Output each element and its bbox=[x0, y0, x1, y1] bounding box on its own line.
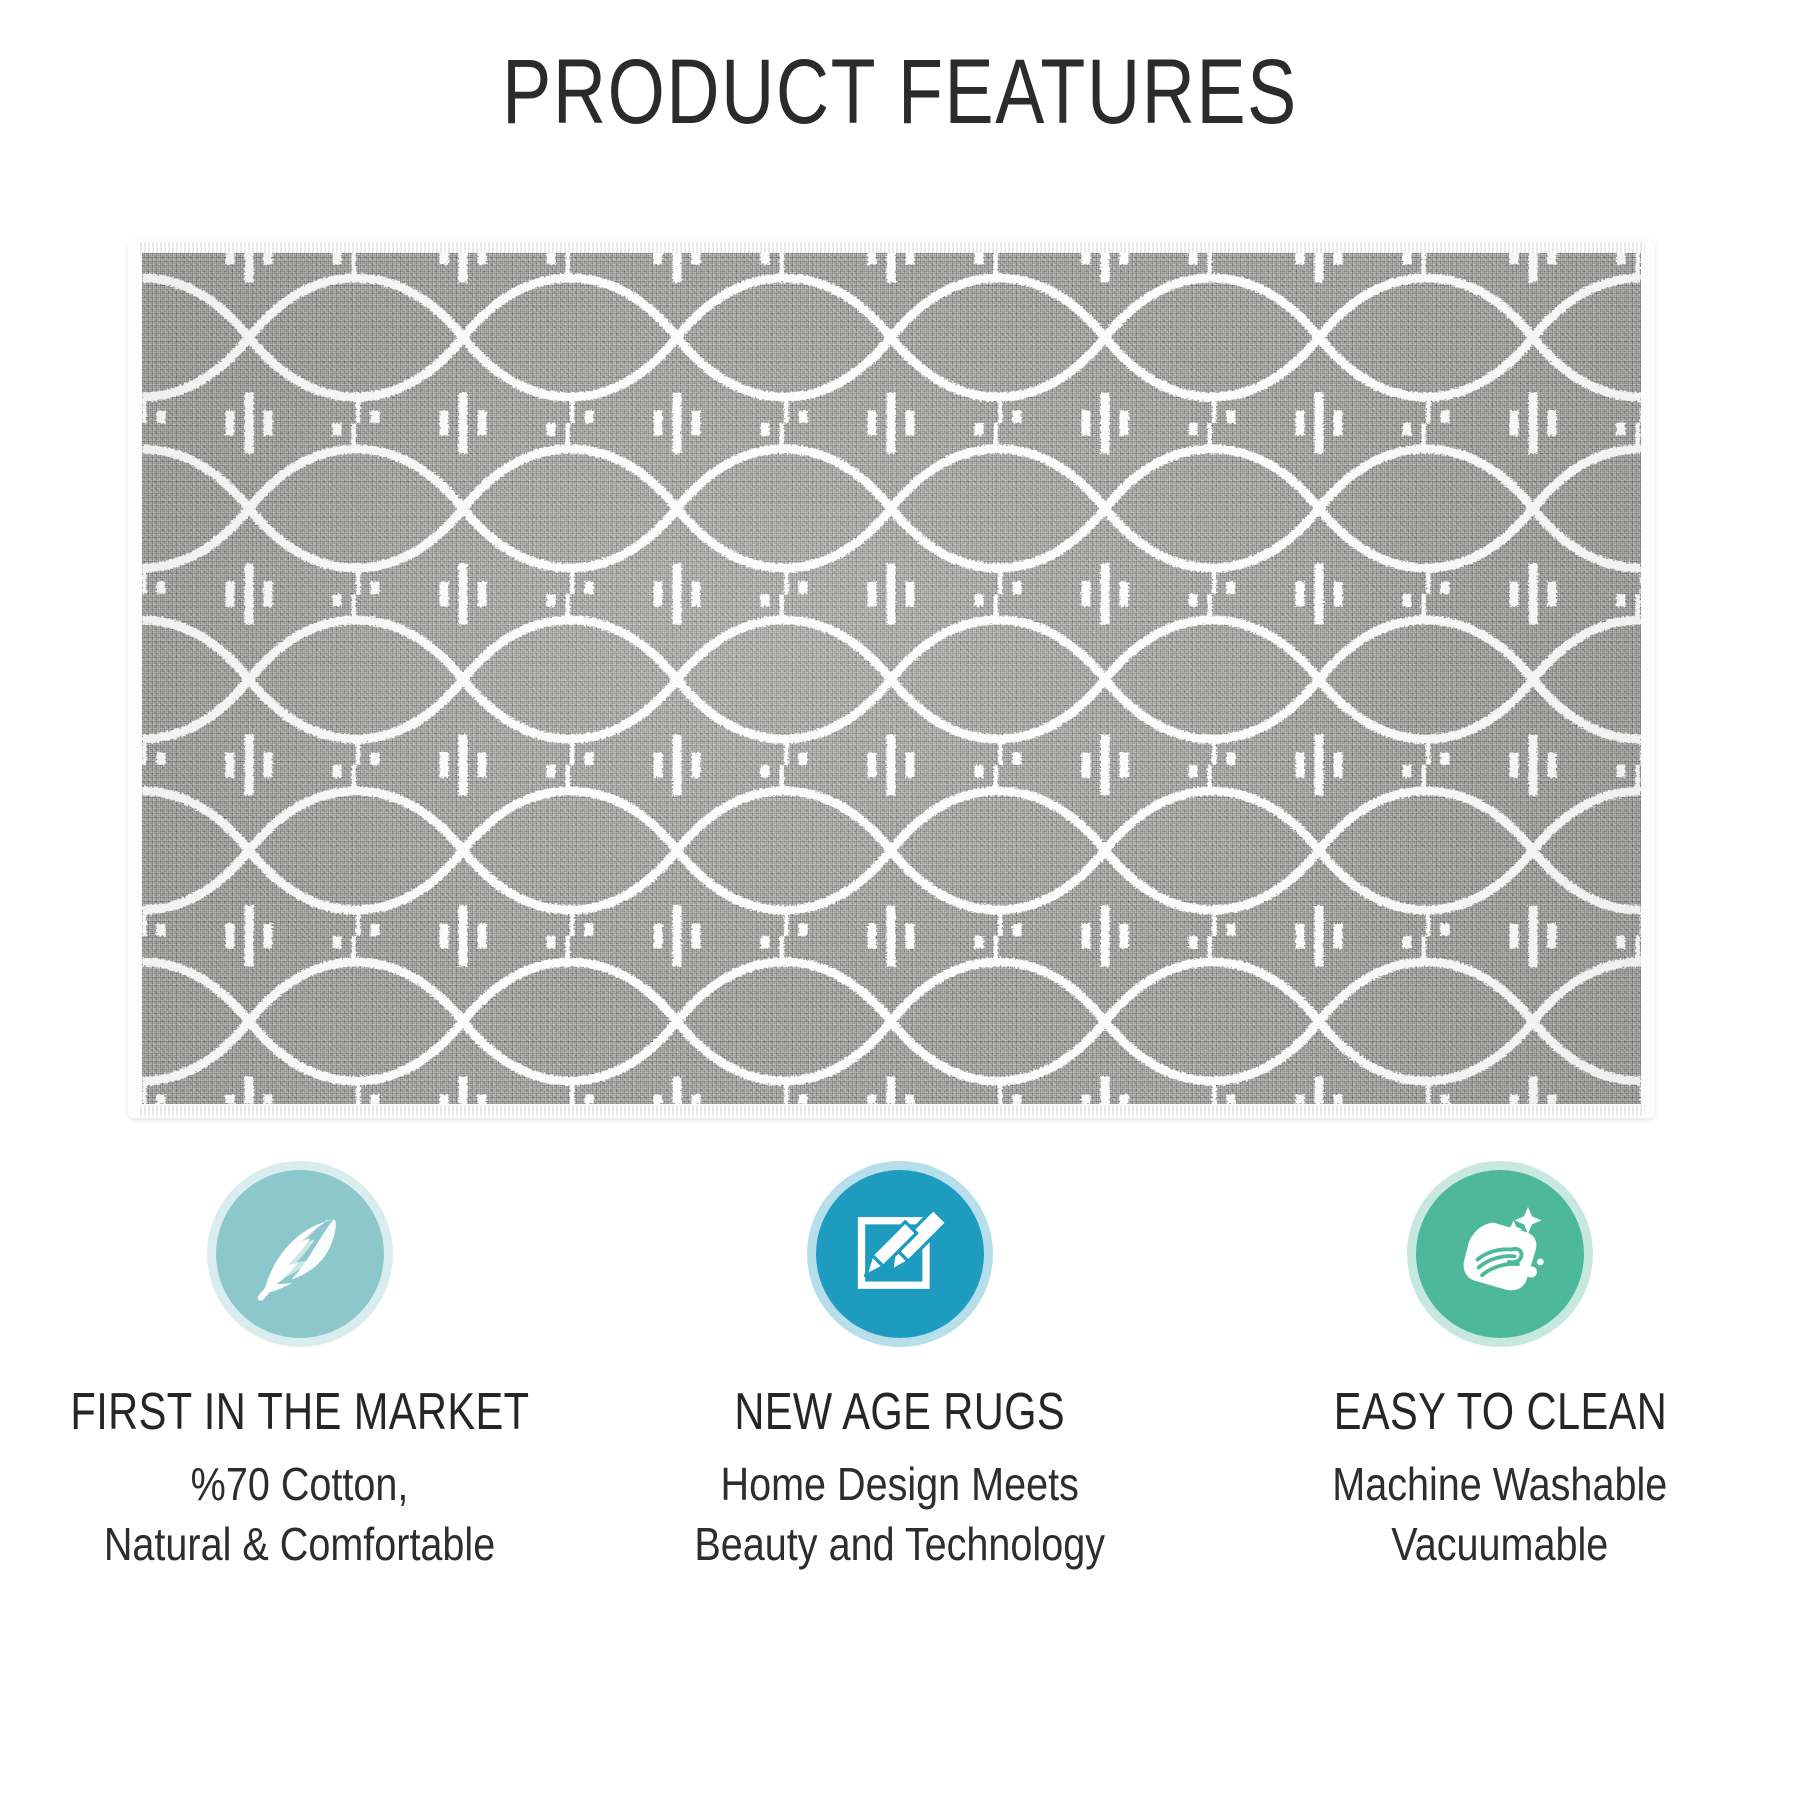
feather-icon bbox=[244, 1198, 356, 1310]
feature-first-in-the-market: FIRST IN THE MARKET %70 Cotton, Natural … bbox=[0, 1170, 600, 1575]
feature-icon-circle bbox=[1416, 1170, 1584, 1338]
feature-line-2: Beauty and Technology bbox=[695, 1515, 1106, 1575]
rug-field bbox=[142, 252, 1641, 1104]
feature-description: Machine Washable Vacuumable bbox=[1333, 1455, 1668, 1575]
feature-heading: FIRST IN THE MARKET bbox=[70, 1386, 529, 1439]
rug-serged-edge-bottom bbox=[138, 1105, 1645, 1116]
feature-description: %70 Cotton, Natural & Comfortable bbox=[104, 1455, 495, 1575]
feature-icon-circle bbox=[216, 1170, 384, 1338]
feature-heading: EASY TO CLEAN bbox=[1333, 1386, 1667, 1439]
feature-new-age-rugs: NEW AGE RUGS Home Design Meets Beauty an… bbox=[600, 1170, 1200, 1575]
page-title: PRODUCT FEATURES bbox=[180, 46, 1620, 138]
feature-description: Home Design Meets Beauty and Technology bbox=[695, 1455, 1106, 1575]
feature-line-1: Home Design Meets bbox=[695, 1455, 1106, 1515]
design-canvas-pen-icon bbox=[848, 1202, 952, 1306]
rug-trellis-pattern bbox=[142, 252, 1641, 1104]
hand-wiping-sparkle-icon bbox=[1444, 1198, 1556, 1310]
rug-serged-edge-top bbox=[138, 242, 1645, 253]
feature-icon-circle bbox=[816, 1170, 984, 1338]
feature-line-2: Natural & Comfortable bbox=[104, 1515, 495, 1575]
rug-body bbox=[128, 240, 1655, 1118]
features-row: FIRST IN THE MARKET %70 Cotton, Natural … bbox=[0, 1170, 1800, 1575]
feature-line-2: Vacuumable bbox=[1333, 1515, 1668, 1575]
feature-easy-to-clean: EASY TO CLEAN Machine Washable Vacuumabl… bbox=[1200, 1170, 1800, 1575]
product-features-infographic: PRODUCT FEATURES bbox=[0, 0, 1800, 1800]
product-image-rug bbox=[128, 240, 1655, 1118]
feature-line-1: Machine Washable bbox=[1333, 1455, 1668, 1515]
feature-line-1: %70 Cotton, bbox=[104, 1455, 495, 1515]
feature-heading: NEW AGE RUGS bbox=[735, 1386, 1066, 1439]
